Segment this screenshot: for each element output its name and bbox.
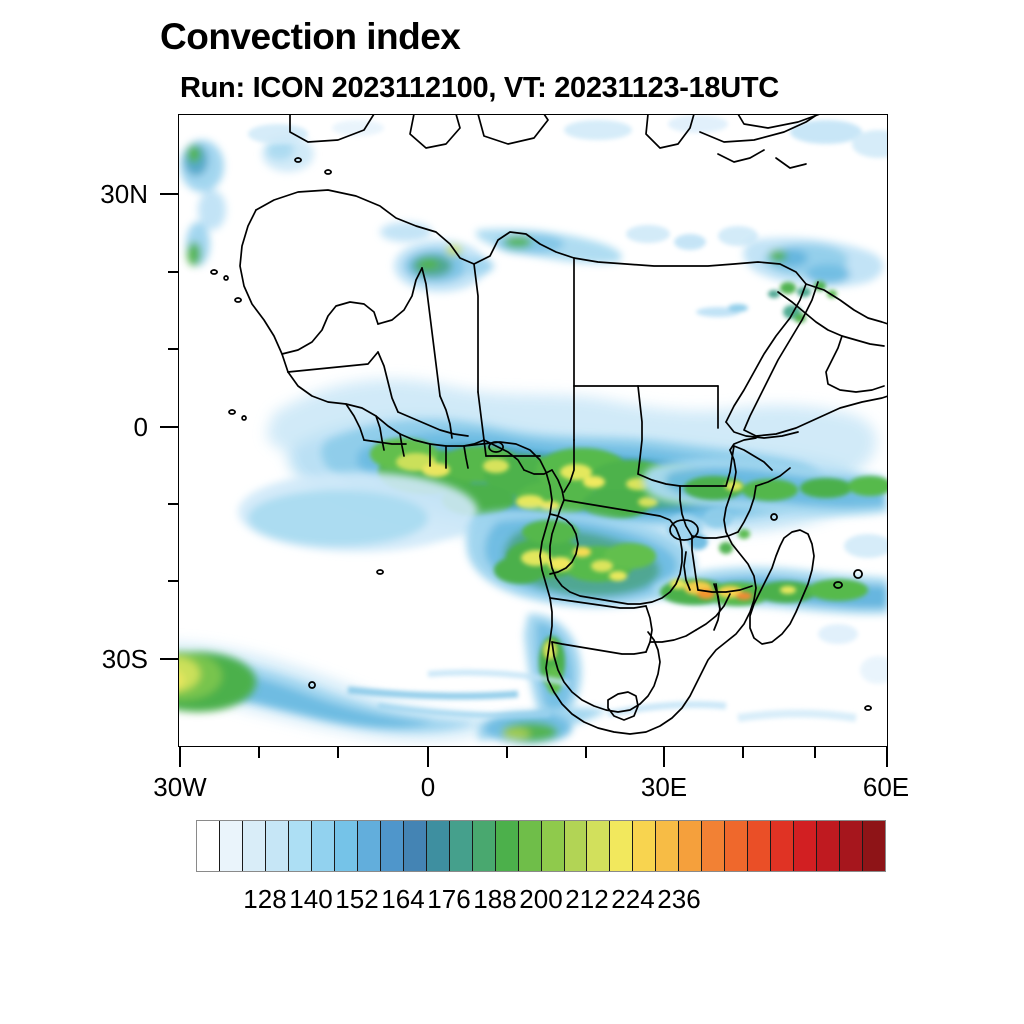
colorbar-segment <box>335 821 358 871</box>
colorbar-segment <box>565 821 588 871</box>
convection-map <box>178 114 888 747</box>
colorbar-segment <box>427 821 450 871</box>
x-tick-label-60e: 60E <box>826 772 946 803</box>
colorbar-segment <box>610 821 633 871</box>
colorbar-segment <box>266 821 289 871</box>
x-tick-label-0: 0 <box>368 772 488 803</box>
colorbar-segment <box>771 821 794 871</box>
x-tick-major-0 <box>427 747 429 767</box>
x-tick-label-30e: 30E <box>604 772 724 803</box>
colorbar-segment <box>220 821 243 871</box>
colorbar-segment <box>748 821 771 871</box>
colorbar-segment <box>519 821 542 871</box>
y-tick-major-30n <box>160 193 178 195</box>
colorbar-segment <box>840 821 863 871</box>
x-tick-minor-40e <box>742 747 744 758</box>
colorbar-segment <box>496 821 519 871</box>
colorbar <box>196 820 886 872</box>
x-tick-major-30e <box>663 747 665 767</box>
colorbar-tick-label: 236 <box>639 884 719 915</box>
colorbar-segment <box>450 821 473 871</box>
y-tick-minor-20n <box>168 271 178 273</box>
colorbar-segment <box>656 821 679 871</box>
y-tick-label-30s: 30S <box>30 644 148 675</box>
y-tick-minor-20s <box>168 580 178 582</box>
colorbar-segment <box>587 821 610 871</box>
colorbar-segment <box>679 821 702 871</box>
y-tick-major-30s <box>160 658 178 660</box>
x-tick-minor-20w <box>258 747 260 758</box>
colorbar-segment <box>542 821 565 871</box>
x-tick-label-30w: 30W <box>120 772 240 803</box>
y-tick-minor-10n <box>168 348 178 350</box>
colorbar-segment <box>633 821 656 871</box>
colorbar-segment <box>381 821 404 871</box>
colorbar-segment <box>863 821 885 871</box>
x-tick-minor-20e <box>585 747 587 758</box>
x-tick-minor-50e <box>814 747 816 758</box>
colorbar-segment <box>358 821 381 871</box>
colorbar-segment <box>725 821 748 871</box>
page-title: Convection index <box>160 16 460 58</box>
y-tick-label-30n: 30N <box>30 179 148 210</box>
y-tick-minor-10s <box>168 503 178 505</box>
x-tick-minor-10e <box>506 747 508 758</box>
colorbar-segment <box>702 821 725 871</box>
colorbar-segment <box>197 821 220 871</box>
colorbar-segment <box>817 821 840 871</box>
y-tick-major-0 <box>160 426 178 428</box>
y-tick-label-0: 0 <box>30 412 148 443</box>
colorbar-segment <box>794 821 817 871</box>
colorbar-segment <box>404 821 427 871</box>
x-tick-minor-10w <box>337 747 339 758</box>
convection-index-figure: Convection index Run: ICON 2023112100, V… <box>0 0 1024 1024</box>
colorbar-segment <box>243 821 266 871</box>
colorbar-segment <box>289 821 312 871</box>
x-tick-major-30w <box>179 747 181 767</box>
colorbar-segment <box>473 821 496 871</box>
map-plot-area <box>178 114 888 747</box>
colorbar-segment <box>312 821 335 871</box>
x-tick-major-60e <box>886 747 888 767</box>
run-valid-time-subtitle: Run: ICON 2023112100, VT: 20231123-18UTC <box>180 72 779 105</box>
